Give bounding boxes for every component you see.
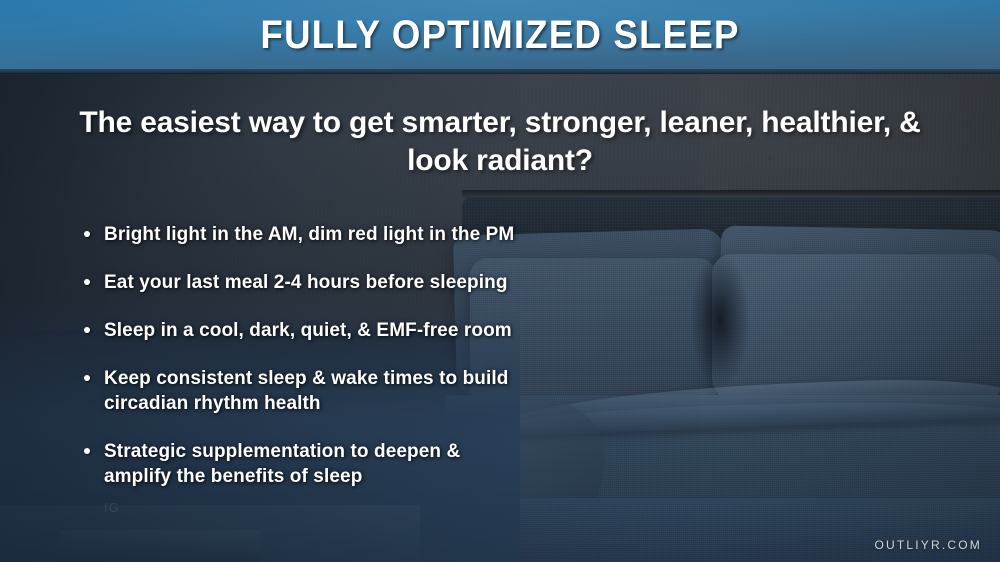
list-item: Eat your last meal 2-4 hours before slee… xyxy=(78,270,698,295)
title-banner-underline xyxy=(0,69,1000,74)
tips-list: Bright light in the AM, dim red light in… xyxy=(78,222,698,489)
subtitle: The easiest way to get smarter, stronger… xyxy=(70,104,930,180)
page-title: FULLY OPTIMIZED SLEEP xyxy=(40,9,960,61)
bullet-dot-icon xyxy=(84,231,90,237)
bullet-dot-icon xyxy=(84,279,90,285)
list-item-line1: Eat your last meal 2-4 hours before slee… xyxy=(104,272,508,293)
list-item-line1: Bright light in the AM, dim red light in… xyxy=(104,224,514,245)
list-item: Keep consistent sleep & wake times to bu… xyxy=(78,366,698,416)
list-item-line2: circadian rhythm health xyxy=(104,391,698,416)
list-item-line1: Sleep in a cool, dark, quiet, & EMF-free… xyxy=(104,320,512,341)
bullet-dot-icon xyxy=(84,375,90,381)
list-item: Sleep in a cool, dark, quiet, & EMF-free… xyxy=(78,318,698,343)
faint-background-mark: IG xyxy=(104,500,120,515)
list-item: Strategic supplementation to deepen & am… xyxy=(78,439,698,489)
list-item-line2: amplify the benefits of sleep xyxy=(104,464,698,489)
list-item: Bright light in the AM, dim red light in… xyxy=(78,222,698,247)
sleep-infographic-slide: FULLY OPTIMIZED SLEEP The easiest way to… xyxy=(0,0,1000,562)
list-item-line1: Keep consistent sleep & wake times to bu… xyxy=(104,368,508,389)
bullet-dot-icon xyxy=(84,448,90,454)
bullet-dot-icon xyxy=(84,327,90,333)
site-watermark: OUTLIYR.COM xyxy=(874,538,982,552)
list-item-line1: Strategic supplementation to deepen & xyxy=(104,441,460,462)
